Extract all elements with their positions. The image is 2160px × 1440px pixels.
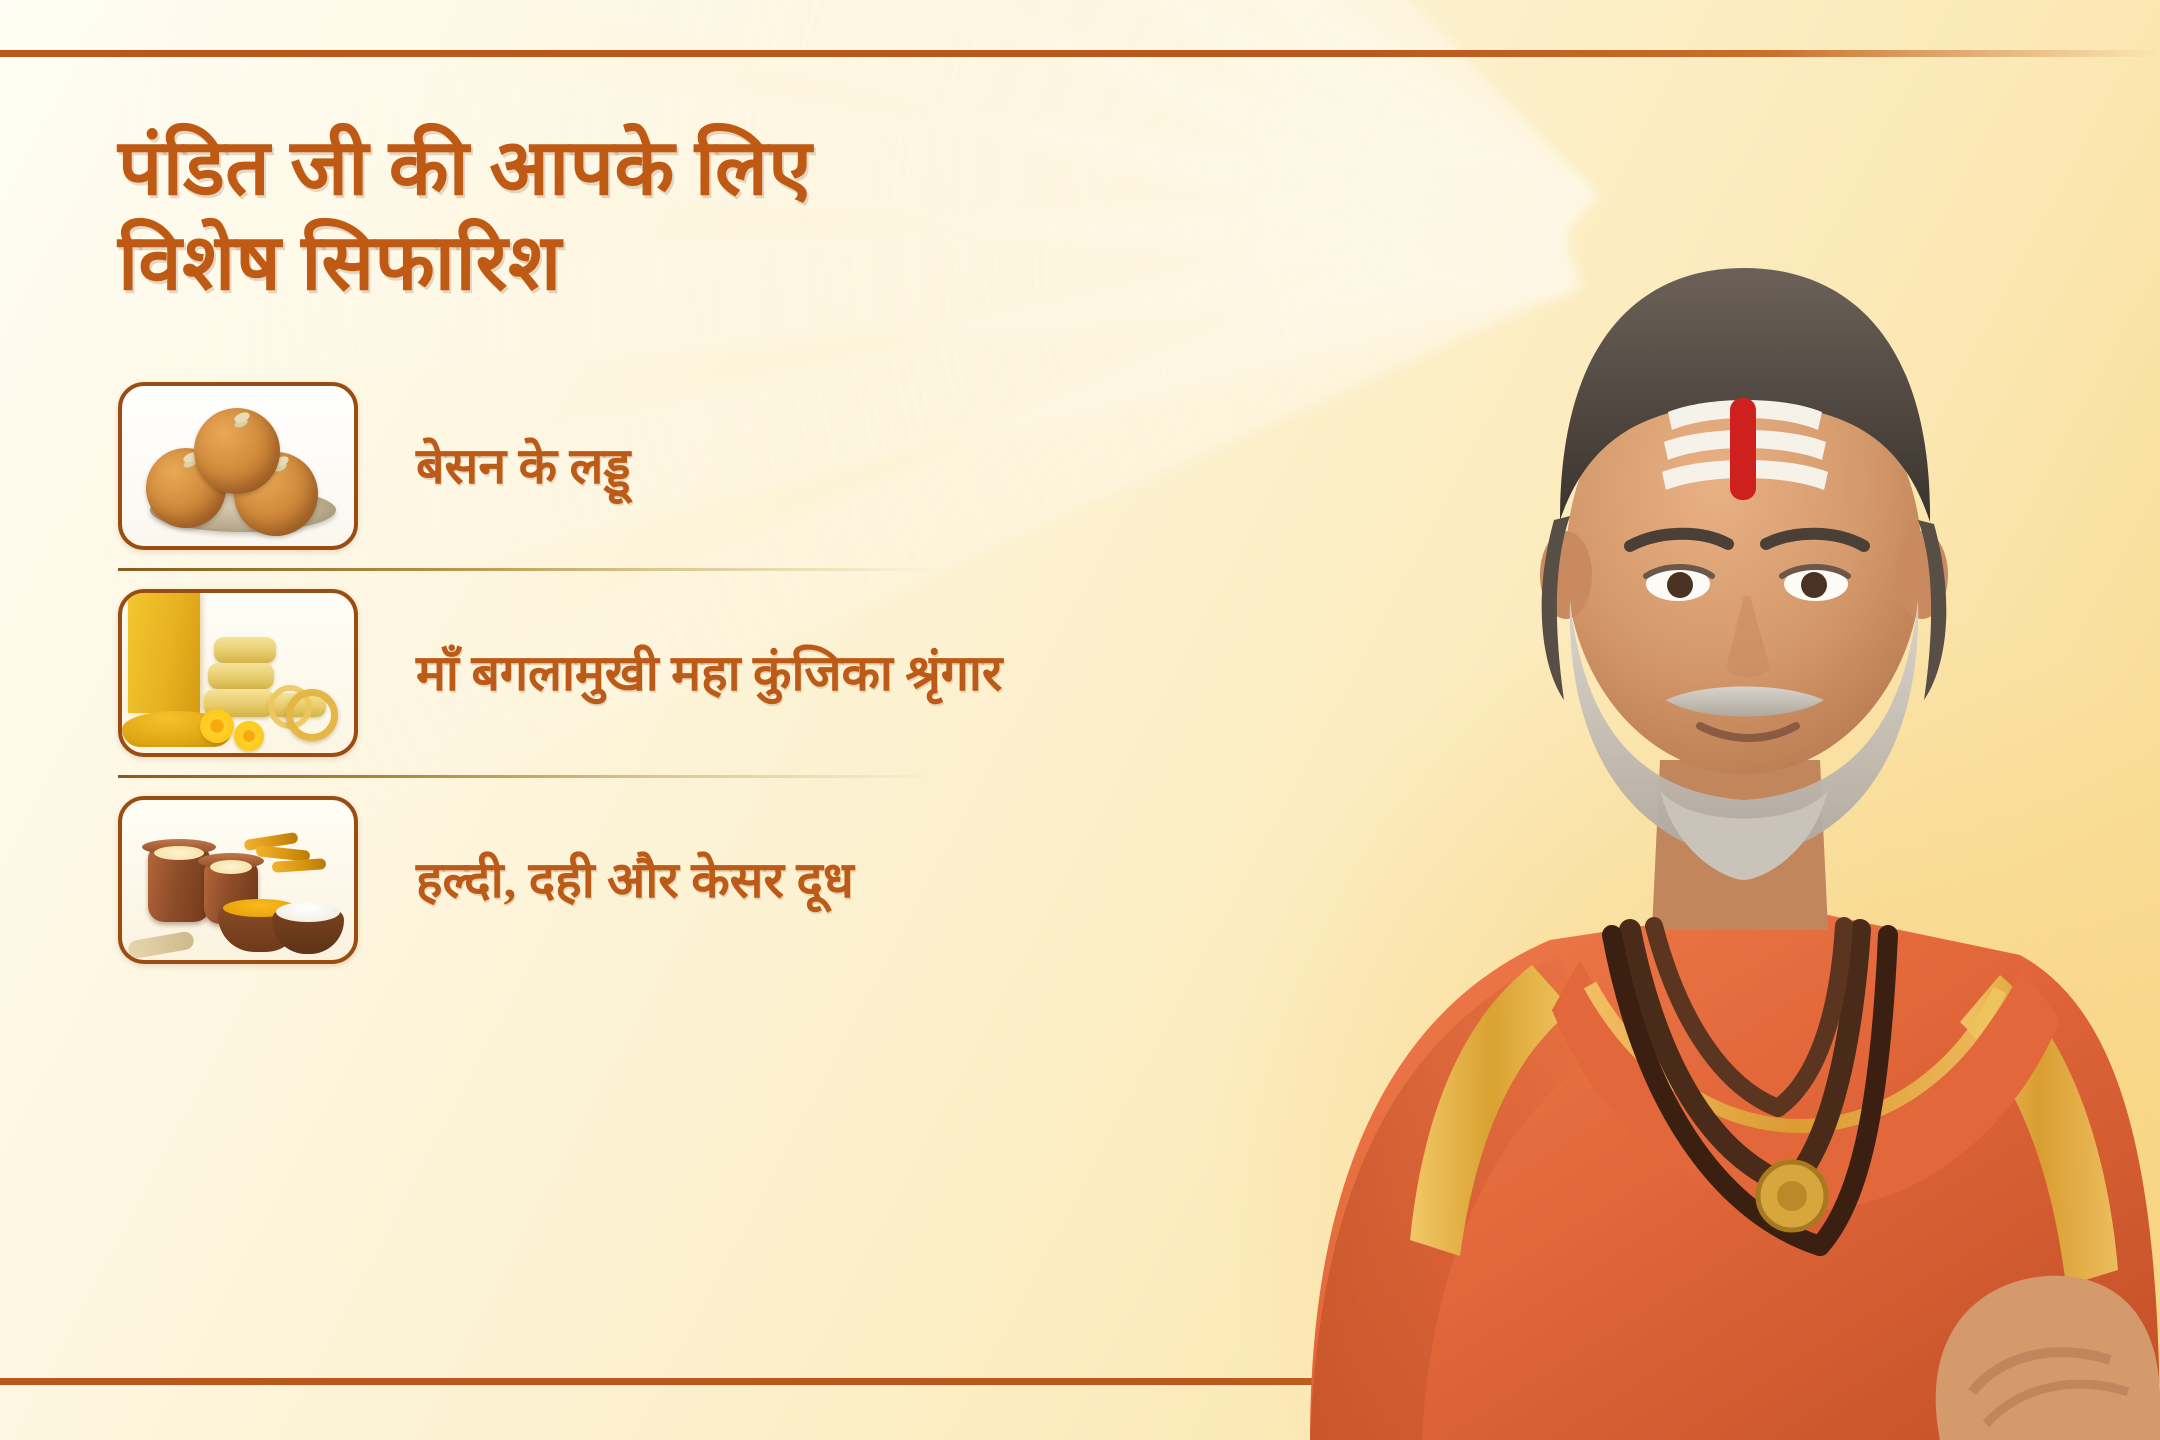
haldi-dahi-kesar-doodh-thumbnail [118,796,358,964]
list-item[interactable]: बेसन के लड्डू [118,368,1018,564]
portrait-illustration [1160,0,2160,1440]
top-rule-divider [0,50,2160,57]
page-title-line-1: पंडित जी की आपके लिए [118,124,812,211]
page-title: पंडित जी की आपके लिए विशेष सिफारिश [118,120,1178,310]
list-separator [118,568,938,571]
list-item-label: हल्दी, दही और केसर दूध [416,847,854,914]
list-separator [118,775,938,778]
poster-canvas: पंडित जी की आपके लिए विशेष सिफारिश बेसन … [0,0,2160,1440]
list-item[interactable]: माँ बगलामुखी महा कुंजिका श्रृंगार [118,575,1018,771]
warm-glow-decoration [1180,600,2160,1440]
bagalamukhi-shringar-thumbnail [118,589,358,757]
page-title-line-2: विशेष सिफारिश [118,215,1178,310]
pandit-ji-portrait [1160,0,2160,1440]
recommendation-list: बेसन के लड्डू [118,368,1018,978]
besan-laddu-thumbnail [118,382,358,550]
list-item[interactable]: हल्दी, दही और केसर दूध [118,782,1018,978]
content-column: पंडित जी की आपके लिए विशेष सिफारिश बेसन … [118,120,1178,978]
list-item-label: माँ बगलामुखी महा कुंजिका श्रृंगार [416,640,1002,707]
list-item-label: बेसन के लड्डू [416,433,631,500]
bottom-rule-divider [0,1378,2160,1385]
